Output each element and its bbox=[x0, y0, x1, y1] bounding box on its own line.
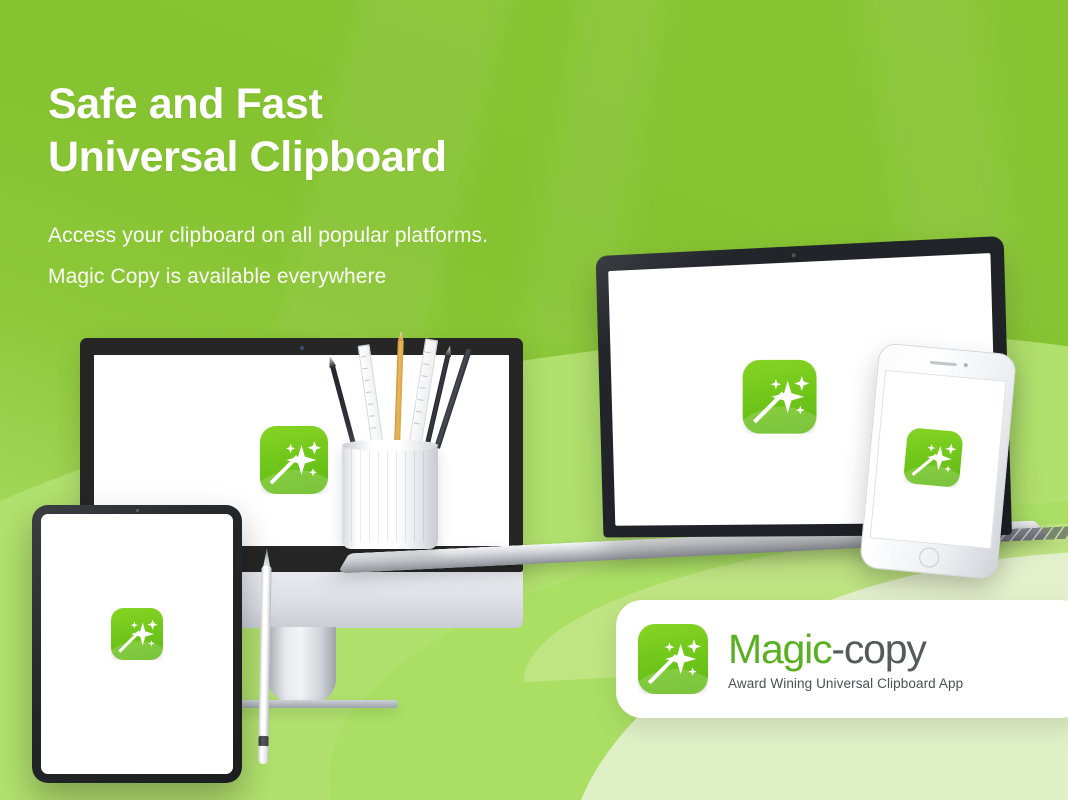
magic-wand-app-icon bbox=[638, 624, 708, 694]
brand-name-secondary: -copy bbox=[831, 626, 925, 672]
brand-name-primary: Magic bbox=[728, 626, 831, 672]
stylus-shaft bbox=[258, 566, 271, 744]
brand-tagline: Award Wining Universal Clipboard App bbox=[728, 676, 963, 691]
brand-text-block: Magic-copy Award Wining Universal Clipbo… bbox=[728, 627, 963, 691]
background-light-band bbox=[274, 0, 536, 371]
page-title: Safe and Fast Universal Clipboard bbox=[48, 78, 447, 184]
brand-wordmark: Magic-copy bbox=[728, 627, 963, 671]
home-button-icon bbox=[918, 547, 940, 569]
magic-wand-app-icon bbox=[743, 360, 817, 434]
page-subtitle: Access your clipboard on all popular pla… bbox=[48, 215, 488, 297]
headline-line-1: Safe and Fast bbox=[48, 80, 322, 128]
camera-icon bbox=[964, 363, 968, 367]
stylus-cap bbox=[258, 746, 268, 764]
promo-banner: Safe and Fast Universal Clipboard Access… bbox=[0, 0, 1068, 800]
magic-wand-app-icon bbox=[903, 427, 964, 488]
device-iphone bbox=[859, 342, 1017, 580]
subtitle-line-1: Access your clipboard on all popular pla… bbox=[48, 215, 488, 256]
pencil-wood bbox=[394, 340, 404, 448]
subtitle-line-2: Magic Copy is available everywhere bbox=[48, 256, 488, 297]
imac-stand-neck bbox=[268, 627, 336, 703]
camera-icon bbox=[300, 346, 304, 350]
headline-line-2: Universal Clipboard bbox=[48, 131, 447, 184]
magic-wand-app-icon bbox=[111, 608, 163, 660]
ruler-white-1 bbox=[358, 344, 384, 449]
device-ipad bbox=[32, 505, 242, 783]
cup-rim bbox=[342, 440, 438, 451]
ruler-white-2 bbox=[408, 338, 438, 449]
brand-logo-card: Magic-copy Award Wining Universal Clipbo… bbox=[616, 600, 1068, 718]
speaker-icon bbox=[930, 361, 957, 366]
pencil-cup bbox=[318, 352, 468, 560]
pencil-black bbox=[330, 364, 357, 448]
cup-body bbox=[342, 444, 438, 549]
camera-icon bbox=[792, 253, 796, 257]
camera-icon bbox=[136, 509, 139, 512]
